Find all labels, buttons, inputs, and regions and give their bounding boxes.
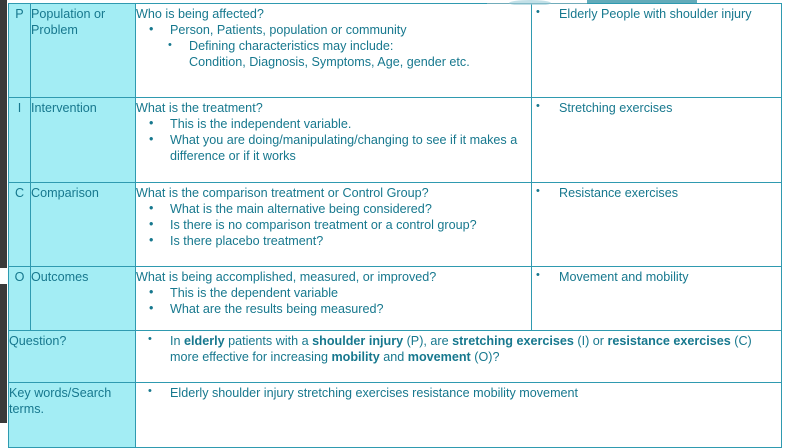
question-plain-text: patients with a [225,334,313,348]
cut-off-top-artifact [487,0,697,5]
question-plain-text: (O)? [471,350,500,364]
detail-bullet-list: This is the independent variable. What y… [136,117,531,165]
list-item: This is the dependent variable [149,286,531,302]
answer-list: Stretching exercises [532,101,781,117]
row-letter-c: C [9,183,31,267]
question-bold-term: shoulder injury [312,334,403,348]
list-item: Is there is no comparison treatment or a… [149,218,531,234]
question-bold-term: resistance exercises [608,334,731,348]
row-detail-comparison: What is the comparison treatment or Cont… [136,183,532,267]
table-row-intervention: I Intervention What is the treatment? Th… [9,98,782,183]
detail-lead: What is the treatment? [136,101,531,117]
sub-bullet-text: Defining characteristics may include: [189,39,393,53]
row-detail-question: In elderly patients with a shoulder inju… [136,331,782,383]
row-detail-population: Who is being affected? Person, Patients,… [136,4,532,98]
row-answer-intervention: Stretching exercises [532,98,782,183]
list-item: What are the results being measured? [149,302,531,318]
artifact-bar [587,0,697,3]
list-item: Person, Patients, population or communit… [149,23,531,39]
list-item: Defining characteristics may include: Co… [168,39,531,71]
page-gutter-break [0,268,7,284]
artifact-blob [509,0,551,5]
keywords-list: Elderly shoulder injury stretching exerc… [136,386,781,402]
list-item: This is the independent variable. [149,117,531,133]
list-item: Elderly People with shoulder injury [536,7,781,23]
question-plain-text: In [170,334,184,348]
picot-table: P Population or Problem Who is being aff… [8,3,782,448]
question-plain-text: (P), are [403,334,452,348]
row-detail-outcomes: What is being accomplished, measured, or… [136,267,532,331]
row-label-question: Question? [9,331,136,383]
table-row-outcomes: O Outcomes What is being accomplished, m… [9,267,782,331]
question-bold-term: mobility [331,350,379,364]
answer-list: Resistance exercises [532,186,781,202]
detail-lead: Who is being affected? [136,7,531,23]
row-label-comparison: Comparison [31,183,136,267]
page-gutter-strip [0,0,7,423]
row-label-outcomes: Outcomes [31,267,136,331]
question-bold-term: elderly [184,334,225,348]
row-detail-intervention: What is the treatment? This is the indep… [136,98,532,183]
picot-table-body: P Population or Problem Who is being aff… [9,4,782,448]
row-label-intervention: Intervention [31,98,136,183]
detail-lead: What is being accomplished, measured, or… [136,270,531,286]
question-bold-term: stretching exercises [452,334,574,348]
detail-bullet-list: Person, Patients, population or communit… [136,23,531,39]
row-detail-keywords: Elderly shoulder injury stretching exerc… [136,383,782,448]
question-plain-text: (I) or [574,334,608,348]
answer-list: Movement and mobility [532,270,781,286]
question-text: In elderly patients with a shoulder inju… [170,334,752,364]
list-item: In elderly patients with a shoulder inju… [148,334,781,366]
detail-bullet-list: This is the dependent variable What are … [136,286,531,318]
sub-bullet-continuation: Condition, Diagnosis, Symptoms, Age, gen… [189,55,531,71]
row-answer-comparison: Resistance exercises [532,183,782,267]
question-plain-text: and [380,350,408,364]
list-item: Elderly shoulder injury stretching exerc… [148,386,781,402]
list-item: Stretching exercises [536,101,781,117]
row-letter-i: I [9,98,31,183]
list-item: What you are doing/manipulating/changing… [149,133,531,165]
list-item: Movement and mobility [536,270,781,286]
row-answer-population: Elderly People with shoulder injury [532,4,782,98]
question-list: In elderly patients with a shoulder inju… [136,334,781,366]
table-row-population: P Population or Problem Who is being aff… [9,4,782,98]
row-letter-p: P [9,4,31,98]
question-bold-term: movement [408,350,471,364]
list-item: Is there placebo treatment? [149,234,531,250]
detail-sub-bullet-list: Defining characteristics may include: Co… [136,39,531,71]
row-label-population: Population or Problem [31,4,136,98]
row-label-keywords: Key words/Search terms. [9,383,136,448]
list-item: What is the main alternative being consi… [149,202,531,218]
answer-list: Elderly People with shoulder injury [532,7,781,23]
table-row-keywords: Key words/Search terms. Elderly shoulder… [9,383,782,448]
list-item: Resistance exercises [536,186,781,202]
table-row-question: Question? In elderly patients with a sho… [9,331,782,383]
row-letter-o: O [9,267,31,331]
row-answer-outcomes: Movement and mobility [532,267,782,331]
table-row-comparison: C Comparison What is the comparison trea… [9,183,782,267]
detail-lead: What is the comparison treatment or Cont… [136,186,531,202]
detail-bullet-list: What is the main alternative being consi… [136,202,531,250]
